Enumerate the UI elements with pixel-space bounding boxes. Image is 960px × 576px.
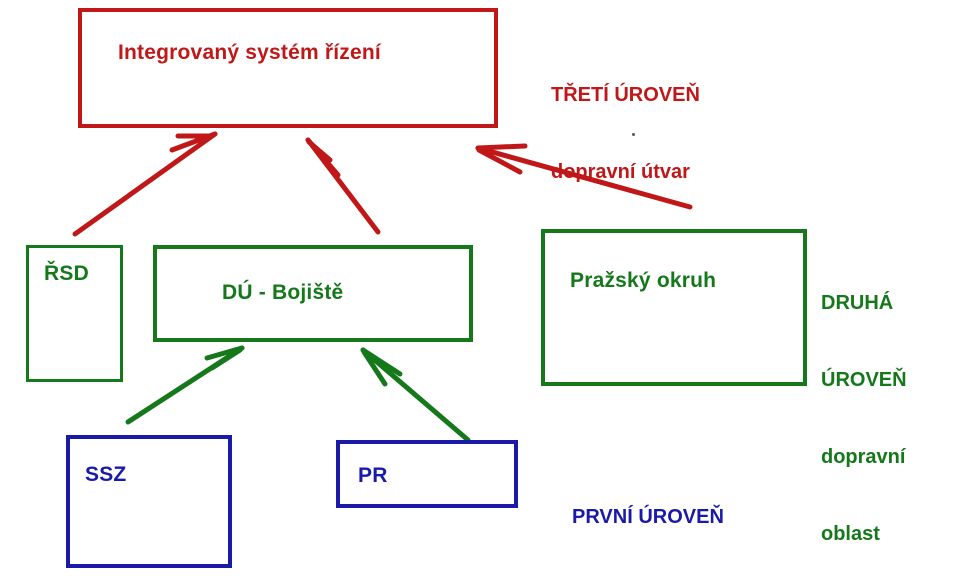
level-first-heading: PRVNÍ ÚROVEŇ bbox=[572, 505, 724, 531]
level-third-caption: TŘETÍ ÚROVEŇ dopravní útvar bbox=[551, 32, 700, 237]
level-second-subtitle-line1: dopravní bbox=[821, 445, 907, 471]
node-integrated-system-label: Integrovaný systém řízení bbox=[118, 41, 381, 65]
node-rsd-label: ŘSD bbox=[44, 262, 89, 286]
speck-artifact bbox=[632, 133, 635, 136]
arrow-du-bojiste-to-integrated-system bbox=[308, 140, 378, 232]
node-prazsky-okruh[interactable] bbox=[541, 229, 807, 386]
level-second-caption: DRUHÁ ÚROVEŇ dopravní oblast bbox=[821, 240, 907, 576]
arrow-pr-to-du-bojiste bbox=[363, 350, 468, 440]
node-du-bojiste-label: DÚ - Bojiště bbox=[222, 281, 343, 305]
level-second-heading-line1: DRUHÁ bbox=[821, 291, 907, 317]
level-third-subtitle: dopravní útvar bbox=[551, 160, 700, 186]
level-second-heading-line2: ÚROVEŇ bbox=[821, 368, 907, 394]
level-third-heading: TŘETÍ ÚROVEŇ bbox=[551, 83, 700, 109]
node-integrated-system[interactable] bbox=[78, 8, 498, 128]
level-first-caption: PRVNÍ ÚROVEŇ dopravní uzel bbox=[572, 454, 724, 576]
node-prazsky-okruh-label: Pražský okruh bbox=[570, 269, 716, 293]
node-pr-label: PR bbox=[358, 464, 388, 488]
level-second-subtitle-line2: oblast bbox=[821, 522, 907, 548]
node-ssz[interactable] bbox=[66, 435, 232, 568]
diagram-canvas: Integrovaný systém řízení TŘETÍ ÚROVEŇ d… bbox=[0, 0, 960, 576]
node-ssz-label: SSZ bbox=[85, 463, 126, 487]
arrow-rsd-to-integrated-system bbox=[75, 134, 215, 234]
arrow-ssz-to-du-bojiste bbox=[128, 348, 242, 422]
